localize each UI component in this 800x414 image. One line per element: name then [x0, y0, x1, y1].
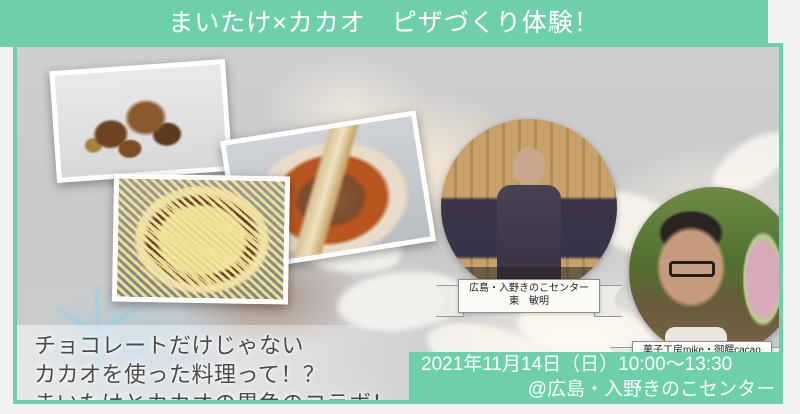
portrait-photo-person-1 [441, 119, 617, 295]
headline-line-3: まいたけとカカオの異色のコラボ！ [34, 389, 434, 400]
photo-image [55, 64, 228, 177]
poster-title: まいたけ×カカオ ピザづくり体験！ [168, 11, 600, 36]
content-frame: 広島・入野きのこセンター 東 敏明 菓子工房mike・御饌cacao 三宅 崇 … [13, 43, 783, 404]
photo-pizza-with-cheese [112, 173, 290, 304]
event-venue: @広島・入野きのこセンター [421, 378, 775, 400]
event-details-box: 2021年11月14日（日）10:00〜13:30 @広島・入野きのこセンター [409, 352, 779, 400]
photo-maitake-mushrooms [49, 59, 232, 183]
caption-ribbon-person-1: 広島・入野きのこセンター 東 敏明 [458, 279, 600, 313]
poster: まいたけ×カカオ ピザづくり体験！ [0, 0, 800, 414]
ribbon-plate: 広島・入野きのこセンター 東 敏明 [458, 279, 600, 313]
headline-line-2: カカオを使った料理って！？ [34, 360, 434, 389]
person-affiliation: 広島・入野きのこセンター [469, 283, 589, 296]
photo-image [117, 179, 285, 300]
content-inner: 広島・入野きのこセンター 東 敏明 菓子工房mike・御饌cacao 三宅 崇 … [17, 47, 779, 400]
photo-image [441, 119, 617, 295]
person-name: 東 敏明 [469, 296, 589, 309]
event-datetime: 2021年11月14日（日）10:00〜13:30 [421, 353, 775, 378]
title-banner: まいたけ×カカオ ピザづくり体験！ [0, 0, 768, 47]
headline-block: チョコレートだけじゃない カカオを使った料理って！？ まいたけとカカオの異色のコ… [34, 331, 434, 400]
headline-line-1: チョコレートだけじゃない [34, 331, 434, 360]
